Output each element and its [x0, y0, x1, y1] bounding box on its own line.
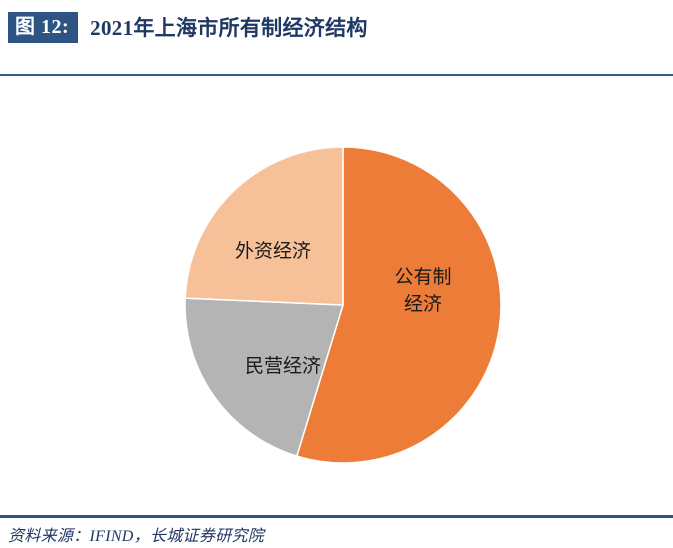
title-divider — [0, 74, 673, 76]
pie-chart-svg — [0, 78, 673, 512]
source-divider — [0, 515, 673, 518]
pie-slice-2[interactable] — [185, 147, 343, 305]
source-note: 资料来源：IFIND，长城证券研究院 — [8, 522, 264, 546]
page-title: 2021年上海市所有制经济结构 — [90, 12, 368, 42]
pie-chart: 公有制 经济 外资经济 民营经济 — [0, 78, 673, 512]
figure-title-row: 图 12: 2021年上海市所有制经济结构 — [0, 10, 673, 44]
figure-number-badge: 图 12: — [8, 12, 78, 43]
